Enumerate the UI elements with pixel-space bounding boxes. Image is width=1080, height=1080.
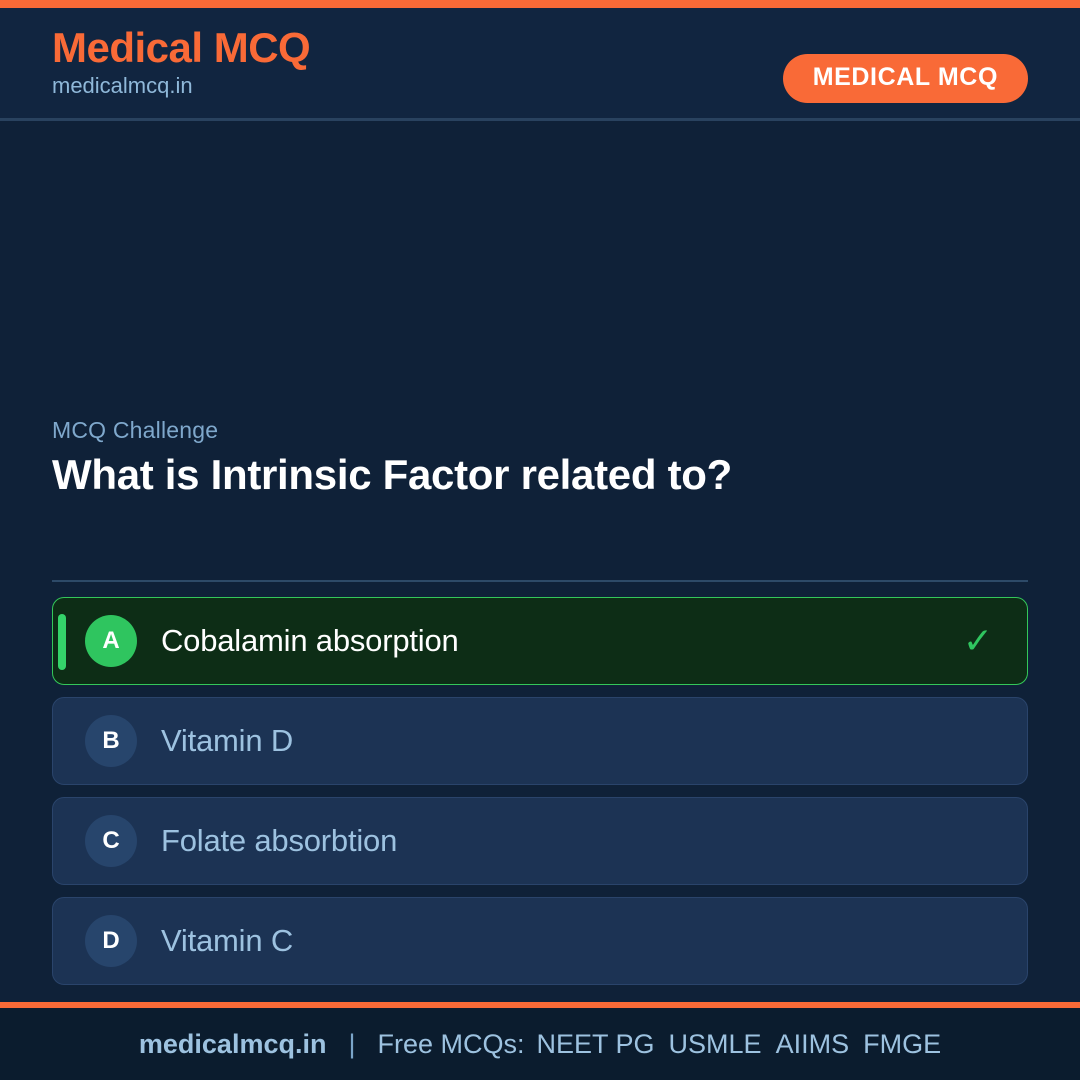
footer-site[interactable]: medicalmcq.in	[139, 1029, 327, 1060]
option-c-badge: C	[85, 815, 137, 867]
footer-exam-usmle: USMLE	[669, 1029, 762, 1060]
option-c-label: Folate absorbtion	[161, 823, 397, 859]
brand-block: Medical MCQ medicalmcq.in	[52, 26, 310, 101]
option-d-badge: D	[85, 915, 137, 967]
brand-title: Medical MCQ	[52, 26, 310, 70]
footer-content: medicalmcq.in | Free MCQs: NEET PG USMLE…	[139, 1029, 941, 1060]
option-a-label: Cobalamin absorption	[161, 623, 459, 659]
footer-exam-neet-pg: NEET PG	[537, 1029, 655, 1060]
footer-prefix: Free MCQs:	[377, 1029, 524, 1060]
footer-exam-aiims: AIIMS	[776, 1029, 850, 1060]
mcq-card: Medical MCQ medicalmcq.in MEDICAL MCQ MC…	[0, 0, 1080, 1080]
brand-subtitle: medicalmcq.in	[52, 72, 310, 101]
footer-exam-fmge: FMGE	[863, 1029, 941, 1060]
header-badge: MEDICAL MCQ	[783, 54, 1028, 103]
top-accent-bar	[0, 0, 1080, 8]
question-divider	[52, 580, 1028, 582]
question-label: MCQ Challenge	[52, 417, 218, 444]
option-b-badge: B	[85, 715, 137, 767]
check-icon: ✓	[963, 623, 993, 659]
option-a[interactable]: A Cobalamin absorption ✓	[52, 597, 1028, 685]
option-b-label: Vitamin D	[161, 723, 293, 759]
correct-accent-bar	[58, 614, 66, 670]
option-d-label: Vitamin C	[161, 923, 293, 959]
footer-separator: |	[348, 1029, 355, 1060]
option-c[interactable]: C Folate absorbtion	[52, 797, 1028, 885]
option-a-badge: A	[85, 615, 137, 667]
header: Medical MCQ medicalmcq.in MEDICAL MCQ	[0, 8, 1080, 121]
footer: medicalmcq.in | Free MCQs: NEET PG USMLE…	[0, 1008, 1080, 1080]
options-list: A Cobalamin absorption ✓ B Vitamin D C F…	[52, 597, 1028, 997]
question-title: What is Intrinsic Factor related to?	[52, 448, 957, 502]
option-d[interactable]: D Vitamin C	[52, 897, 1028, 985]
question-area: MCQ Challenge What is Intrinsic Factor r…	[0, 121, 1080, 1002]
option-b[interactable]: B Vitamin D	[52, 697, 1028, 785]
